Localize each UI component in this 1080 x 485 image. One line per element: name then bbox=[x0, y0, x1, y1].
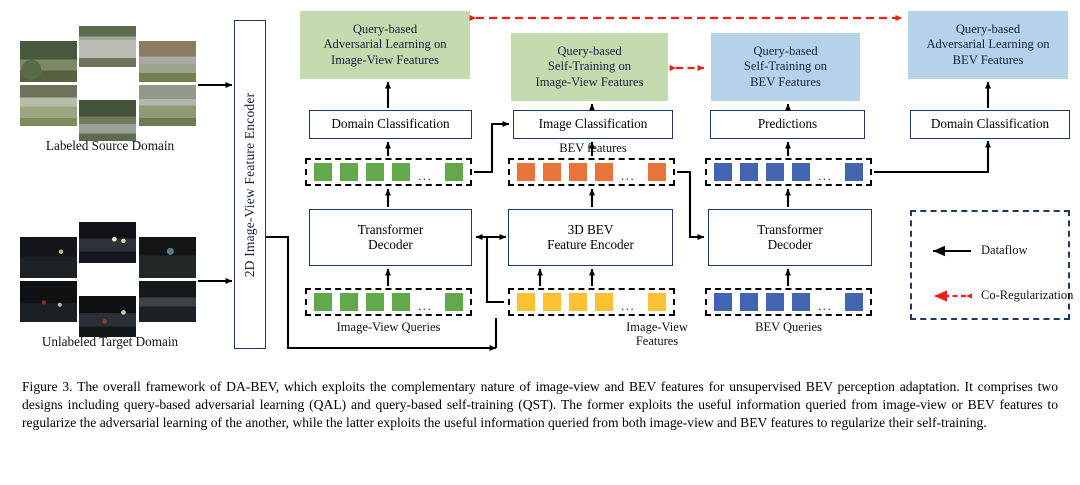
token-square bbox=[366, 293, 384, 311]
unlabeled-target-domain-label: Unlabeled Target Domain bbox=[10, 334, 210, 349]
token-square bbox=[766, 293, 784, 311]
image-view-features-bottom-label: Image-View Features bbox=[612, 320, 702, 349]
source-thumb-5 bbox=[79, 100, 136, 141]
transformer-decoder-left-line-2: Decoder bbox=[358, 238, 423, 253]
token-square bbox=[569, 163, 587, 181]
token-square bbox=[543, 163, 561, 181]
qal-bev-line-1: Query-based bbox=[926, 22, 1049, 37]
bev-features-label: BEV features bbox=[513, 141, 673, 155]
transformer-decoder-right-line-1: Transformer bbox=[757, 223, 822, 238]
token-square bbox=[445, 293, 463, 311]
token-ellipsis: ... bbox=[818, 299, 832, 312]
predictions-box[interactable]: Predictions bbox=[710, 110, 865, 139]
image-view-features-tokens-bottom[interactable]: ... bbox=[508, 288, 675, 316]
dataflow-arrow-icon bbox=[928, 245, 972, 257]
legend-coregularization-row: Co-Regularization bbox=[928, 288, 1073, 303]
token-square bbox=[740, 163, 758, 181]
predictions-label: Predictions bbox=[758, 117, 817, 132]
token-square bbox=[392, 163, 410, 181]
transformer-decoder-left-line-1: Transformer bbox=[358, 223, 423, 238]
image-view-feature-encoder-label: 2D Image-View Feature Encoder bbox=[242, 92, 258, 277]
qal-image-view-box[interactable]: Query-based Adversarial Learning on Imag… bbox=[300, 11, 470, 79]
source-thumb-3 bbox=[139, 41, 196, 82]
token-ellipsis: ... bbox=[621, 299, 635, 312]
domain-classification-left-box[interactable]: Domain Classification bbox=[309, 110, 472, 139]
token-square bbox=[792, 293, 810, 311]
token-square bbox=[340, 293, 358, 311]
qal-image-view-line-3: Image-View Features bbox=[323, 53, 446, 68]
domain-classification-right-box[interactable]: Domain Classification bbox=[910, 110, 1070, 139]
token-square bbox=[569, 293, 587, 311]
qst-image-view-line-1: Query-based bbox=[536, 44, 644, 59]
coregularization-arrow-icon bbox=[928, 290, 972, 302]
target-thumb-2 bbox=[79, 222, 136, 263]
image-classification-box[interactable]: Image Classification bbox=[513, 110, 673, 139]
domain-classification-right-label: Domain Classification bbox=[931, 117, 1049, 132]
target-thumb-3 bbox=[139, 237, 196, 278]
qst-bev-line-1: Query-based bbox=[744, 44, 827, 59]
qal-bev-box[interactable]: Query-based Adversarial Learning on BEV … bbox=[908, 11, 1068, 79]
token-square bbox=[366, 163, 384, 181]
figure-caption: Figure 3. The overall framework of DA-BE… bbox=[22, 378, 1058, 432]
domain-classification-left-label: Domain Classification bbox=[331, 117, 449, 132]
bev-feature-encoder-line-2: Feature Encoder bbox=[547, 238, 634, 253]
bev-feature-encoder-box[interactable]: 3D BEV Feature Encoder bbox=[508, 209, 673, 266]
token-square bbox=[740, 293, 758, 311]
source-thumb-1 bbox=[20, 41, 77, 82]
image-view-features-tokens-top[interactable]: ... bbox=[305, 158, 472, 186]
bev-queries-tokens[interactable]: ... bbox=[705, 288, 872, 316]
qst-bev-line-2: Self-Training on bbox=[744, 59, 827, 74]
image-classification-label: Image Classification bbox=[539, 117, 648, 132]
token-square bbox=[517, 163, 535, 181]
image-view-queries-tokens[interactable]: ... bbox=[305, 288, 472, 316]
legend-coregularization-label: Co-Regularization bbox=[981, 288, 1073, 303]
figure-canvas: Labeled Source Domain Unlabeled Target D… bbox=[0, 0, 1080, 485]
source-thumb-4 bbox=[20, 85, 77, 126]
token-square bbox=[595, 163, 613, 181]
qst-image-view-line-3: Image-View Features bbox=[536, 75, 644, 90]
source-thumb-2 bbox=[79, 26, 136, 67]
image-view-features-bottom-line-2: Features bbox=[612, 334, 702, 348]
target-thumb-5 bbox=[79, 296, 136, 337]
bev-features-tokens-right[interactable]: ... bbox=[705, 158, 872, 186]
legend-dataflow-row: Dataflow bbox=[928, 243, 1028, 258]
token-square bbox=[766, 163, 784, 181]
token-square bbox=[543, 293, 561, 311]
image-view-queries-label: Image-View Queries bbox=[305, 320, 472, 334]
bev-features-tokens[interactable]: ... bbox=[508, 158, 675, 186]
token-square bbox=[845, 163, 863, 181]
token-ellipsis: ... bbox=[418, 169, 432, 182]
token-square bbox=[648, 293, 666, 311]
token-square bbox=[314, 163, 332, 181]
image-view-features-bottom-line-1: Image-View bbox=[612, 320, 702, 334]
token-square bbox=[445, 163, 463, 181]
legend-box bbox=[910, 210, 1070, 320]
source-thumb-6 bbox=[139, 85, 196, 126]
token-square bbox=[517, 293, 535, 311]
token-square bbox=[340, 163, 358, 181]
qst-bev-box[interactable]: Query-based Self-Training on BEV Feature… bbox=[711, 33, 860, 101]
bev-queries-label: BEV Queries bbox=[705, 320, 872, 334]
qst-image-view-line-2: Self-Training on bbox=[536, 59, 644, 74]
qst-image-view-box[interactable]: Query-based Self-Training on Image-View … bbox=[511, 33, 668, 101]
target-thumb-4 bbox=[20, 281, 77, 322]
token-square bbox=[648, 163, 666, 181]
token-ellipsis: ... bbox=[418, 299, 432, 312]
target-thumb-1 bbox=[20, 237, 77, 278]
token-square bbox=[792, 163, 810, 181]
token-square bbox=[392, 293, 410, 311]
qal-image-view-line-1: Query-based bbox=[323, 22, 446, 37]
image-view-feature-encoder-box[interactable]: 2D Image-View Feature Encoder bbox=[234, 20, 266, 349]
qal-bev-line-3: BEV Features bbox=[926, 53, 1049, 68]
token-ellipsis: ... bbox=[621, 169, 635, 182]
transformer-decoder-right-line-2: Decoder bbox=[757, 238, 822, 253]
token-square bbox=[314, 293, 332, 311]
token-square bbox=[845, 293, 863, 311]
token-square bbox=[714, 163, 732, 181]
qal-image-view-line-2: Adversarial Learning on bbox=[323, 37, 446, 52]
transformer-decoder-right-box[interactable]: Transformer Decoder bbox=[708, 209, 872, 266]
transformer-decoder-left-box[interactable]: Transformer Decoder bbox=[309, 209, 472, 266]
token-square bbox=[595, 293, 613, 311]
legend-dataflow-label: Dataflow bbox=[981, 243, 1028, 258]
target-thumb-6 bbox=[139, 281, 196, 322]
qst-bev-line-3: BEV Features bbox=[744, 75, 827, 90]
qal-bev-line-2: Adversarial Learning on bbox=[926, 37, 1049, 52]
labeled-source-domain-label: Labeled Source Domain bbox=[10, 138, 210, 153]
token-square bbox=[714, 293, 732, 311]
token-ellipsis: ... bbox=[818, 169, 832, 182]
bev-feature-encoder-line-1: 3D BEV bbox=[547, 223, 634, 238]
